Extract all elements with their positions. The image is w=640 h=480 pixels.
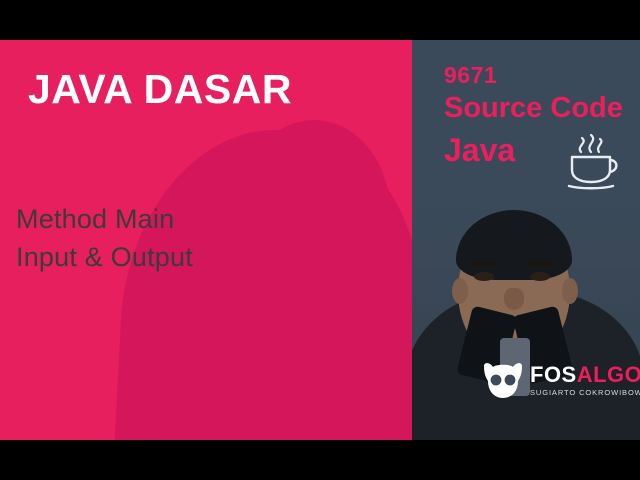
brand-logo: FOSALGO SUGIARTO COKROWIBOWO xyxy=(482,358,632,416)
brand-tagline: SUGIARTO COKROWIBOWO xyxy=(530,388,640,397)
brand-name: FOSALGO xyxy=(530,362,640,388)
brand-name-primary: FOS xyxy=(530,362,577,387)
subtitle-line-2: Input & Output xyxy=(16,238,193,276)
subtitle-line-1: Method Main xyxy=(16,200,193,238)
silhouette-head-shape xyxy=(238,120,390,290)
video-frame: JAVA DASAR Method Main Input & Output xyxy=(0,0,640,480)
presenter-brow-left xyxy=(472,261,496,266)
source-code-label: Source Code xyxy=(444,92,623,125)
presenter-panel: 9671 Source Code Java FOSALG xyxy=(412,40,640,440)
presenter-ear-right xyxy=(562,278,578,304)
java-coffee-cup-icon xyxy=(560,132,622,190)
page-title: JAVA DASAR xyxy=(28,68,292,111)
presenter-nose xyxy=(504,288,524,310)
episode-number: 9671 xyxy=(444,62,497,89)
presenter-eye-left xyxy=(474,272,494,281)
subtitle-block: Method Main Input & Output xyxy=(16,200,193,277)
video-content: JAVA DASAR Method Main Input & Output xyxy=(0,40,640,440)
java-label: Java xyxy=(444,132,515,169)
presenter-eye-right xyxy=(530,272,550,281)
presenter-ear-left xyxy=(452,278,468,304)
title-panel: JAVA DASAR Method Main Input & Output xyxy=(0,40,412,440)
fosalgo-owl-icon xyxy=(482,360,524,400)
brand-name-accent: ALGO xyxy=(577,362,640,387)
presenter-brow-right xyxy=(528,261,552,266)
